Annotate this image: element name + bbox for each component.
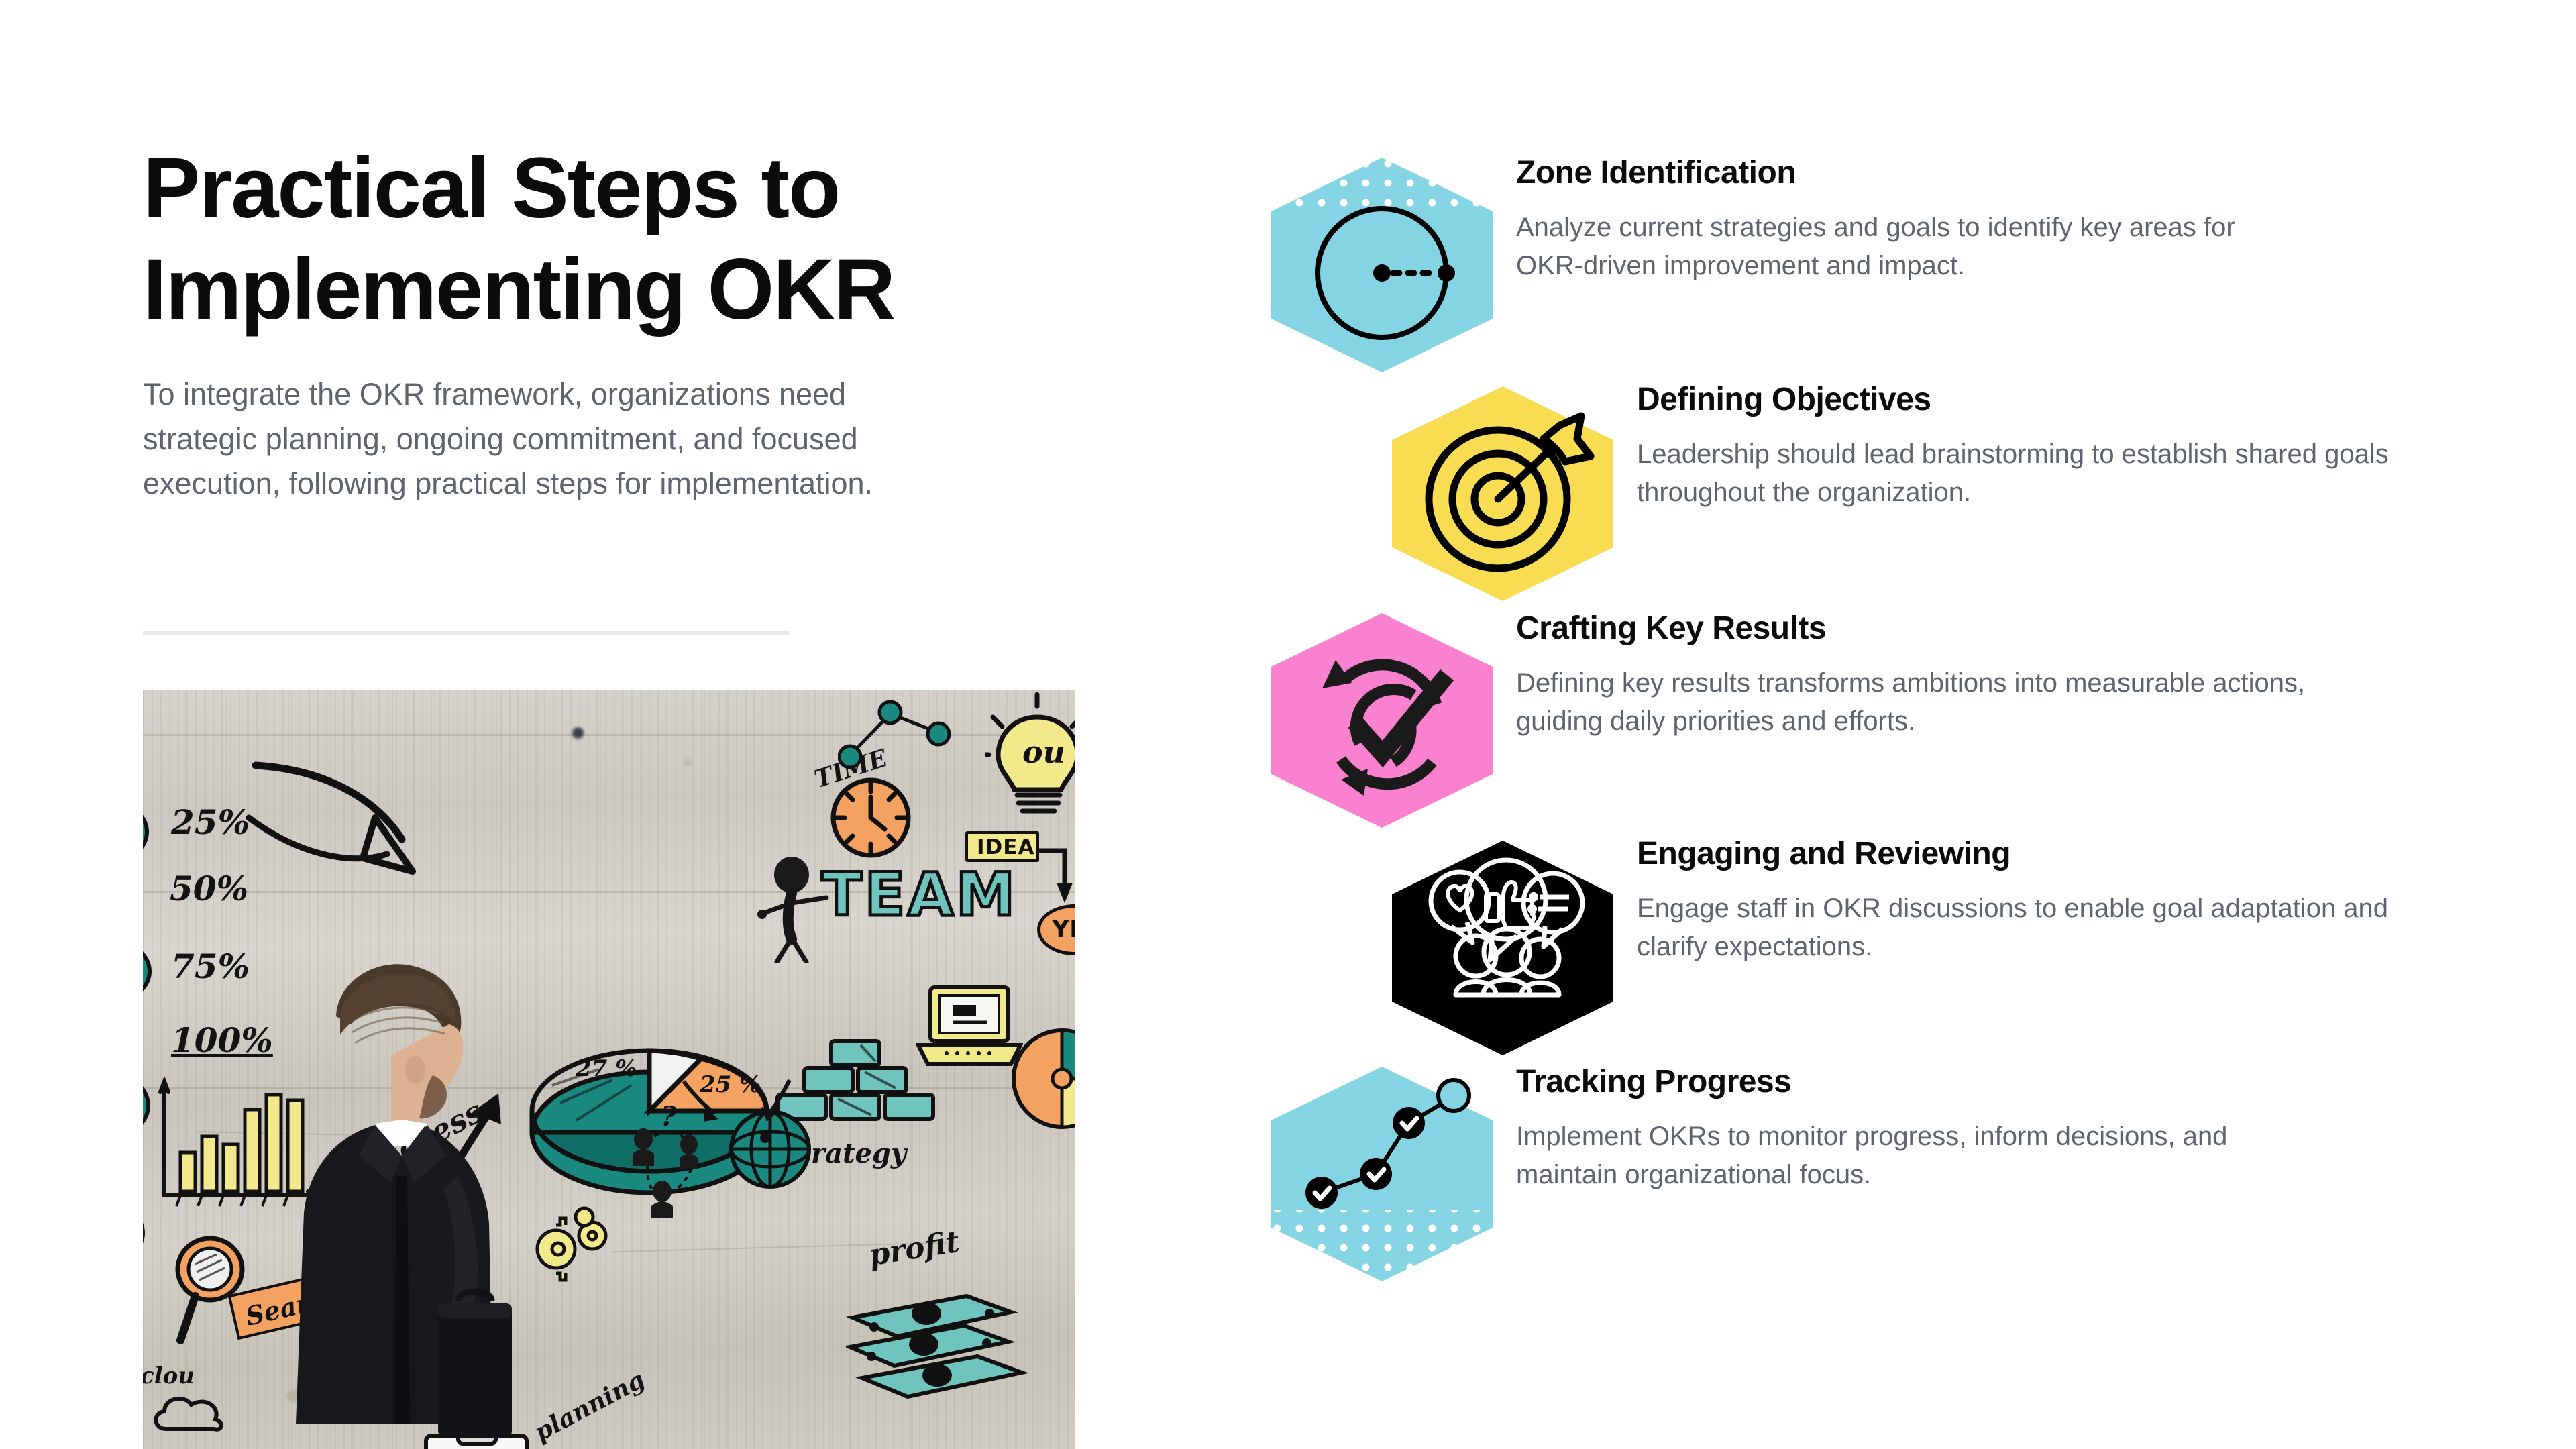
laptop-doodle-small: [916, 983, 1023, 1071]
doodle-label-cloud: clou: [143, 1364, 195, 1387]
step-1-description: Analyze current strategies and goals to …: [1516, 209, 2288, 285]
businessman-figure: [257, 955, 539, 1449]
page-title: Practical Steps to Implementing OKR: [143, 138, 1015, 340]
step-1-text: Zone Identification Analyze current stra…: [1516, 154, 2402, 285]
doodle-label-25: 25%: [171, 806, 250, 839]
idea-arrow-doodle: [1038, 844, 1075, 908]
step-2-title: Defining Objectives: [1637, 381, 2475, 418]
node-network-doodle: [838, 698, 952, 778]
doodle-label-50: 50%: [170, 872, 248, 906]
step-4-hex-badge: [1392, 841, 1613, 1055]
cloud-doodle: [150, 1390, 230, 1437]
people-network-doodle: [627, 1116, 721, 1224]
steps-list: Zone Identification Analyze current stra…: [1271, 158, 2472, 1285]
step-2-description: Leadership should lead brainstorming to …: [1637, 435, 2435, 512]
step-5-text: Tracking Progress Implement OKRs to moni…: [1516, 1063, 2455, 1194]
step-2-hex-badge: [1392, 386, 1613, 601]
wall-spot: [684, 759, 692, 765]
section-divider: [143, 631, 790, 635]
infographic-slide: Practical Steps to Implementing OKR To i…: [0, 0, 2576, 1449]
stick-figure-doodle: [757, 856, 830, 963]
gears-doodle: [527, 1206, 614, 1293]
step-3-description: Defining key results transforms ambition…: [1516, 664, 2321, 741]
hero-photo: 25% 50% 75% 100% TIME: [143, 690, 1075, 1449]
svg-text:27 %: 27 %: [575, 1055, 637, 1082]
doodle-label-idea: IDEA: [977, 837, 1034, 858]
step-1-title: Zone Identification: [1516, 154, 2402, 191]
step-5-title: Tracking Progress: [1516, 1063, 2455, 1100]
step-5-description: Implement OKRs to monitor progress, info…: [1516, 1118, 2281, 1194]
step-2-text: Defining Objectives Leadership should le…: [1637, 381, 2475, 512]
page-title-line-1: Practical Steps to: [143, 140, 839, 236]
doodle-label-75: 75%: [171, 950, 250, 983]
step-5-hex-badge: [1271, 1067, 1493, 1281]
step-4-description: Engage staff in OKR discussions to enabl…: [1637, 890, 2395, 966]
refresh-checkmark-icon: [1271, 613, 1493, 828]
step-4-title: Engaging and Reviewing: [1637, 835, 2475, 872]
step-4-text: Engaging and Reviewing Engage staff in O…: [1637, 835, 2475, 966]
doodle-label-yes: YES: [1052, 918, 1075, 942]
hero-subtitle: To integrate the OKR framework, organiza…: [143, 372, 941, 506]
svg-text:ou: ou: [1022, 734, 1065, 770]
wall-bolt: [572, 727, 584, 739]
money-stack-doodle: [846, 1277, 1034, 1432]
step-3-title: Crafting Key Results: [1516, 610, 2455, 647]
globe-arrows-doodle: [680, 1077, 814, 1124]
people-feedback-bubbles-icon: [1392, 841, 1613, 1055]
puzzle-circle-doodle: [1008, 1025, 1075, 1132]
bullseye-arrow-icon: [1392, 386, 1613, 601]
step-1-hex-badge: [1271, 158, 1493, 372]
step-3-text: Crafting Key Results Defining key result…: [1516, 610, 2455, 741]
curved-arrow-doodle: [244, 753, 465, 908]
lightbulb-doodle: ou: [985, 690, 1075, 821]
target-circle-radius-icon: [1271, 158, 1493, 372]
page-title-line-2: Implementing OKR: [143, 241, 894, 337]
progress-line-chart-icon: [1271, 1067, 1493, 1281]
hero-text-block: Practical Steps to Implementing OKR To i…: [143, 138, 1082, 506]
clock-doodle: [827, 774, 914, 861]
doodle-label-team: TEAM: [822, 865, 1018, 924]
step-3-hex-badge: [1271, 613, 1493, 828]
